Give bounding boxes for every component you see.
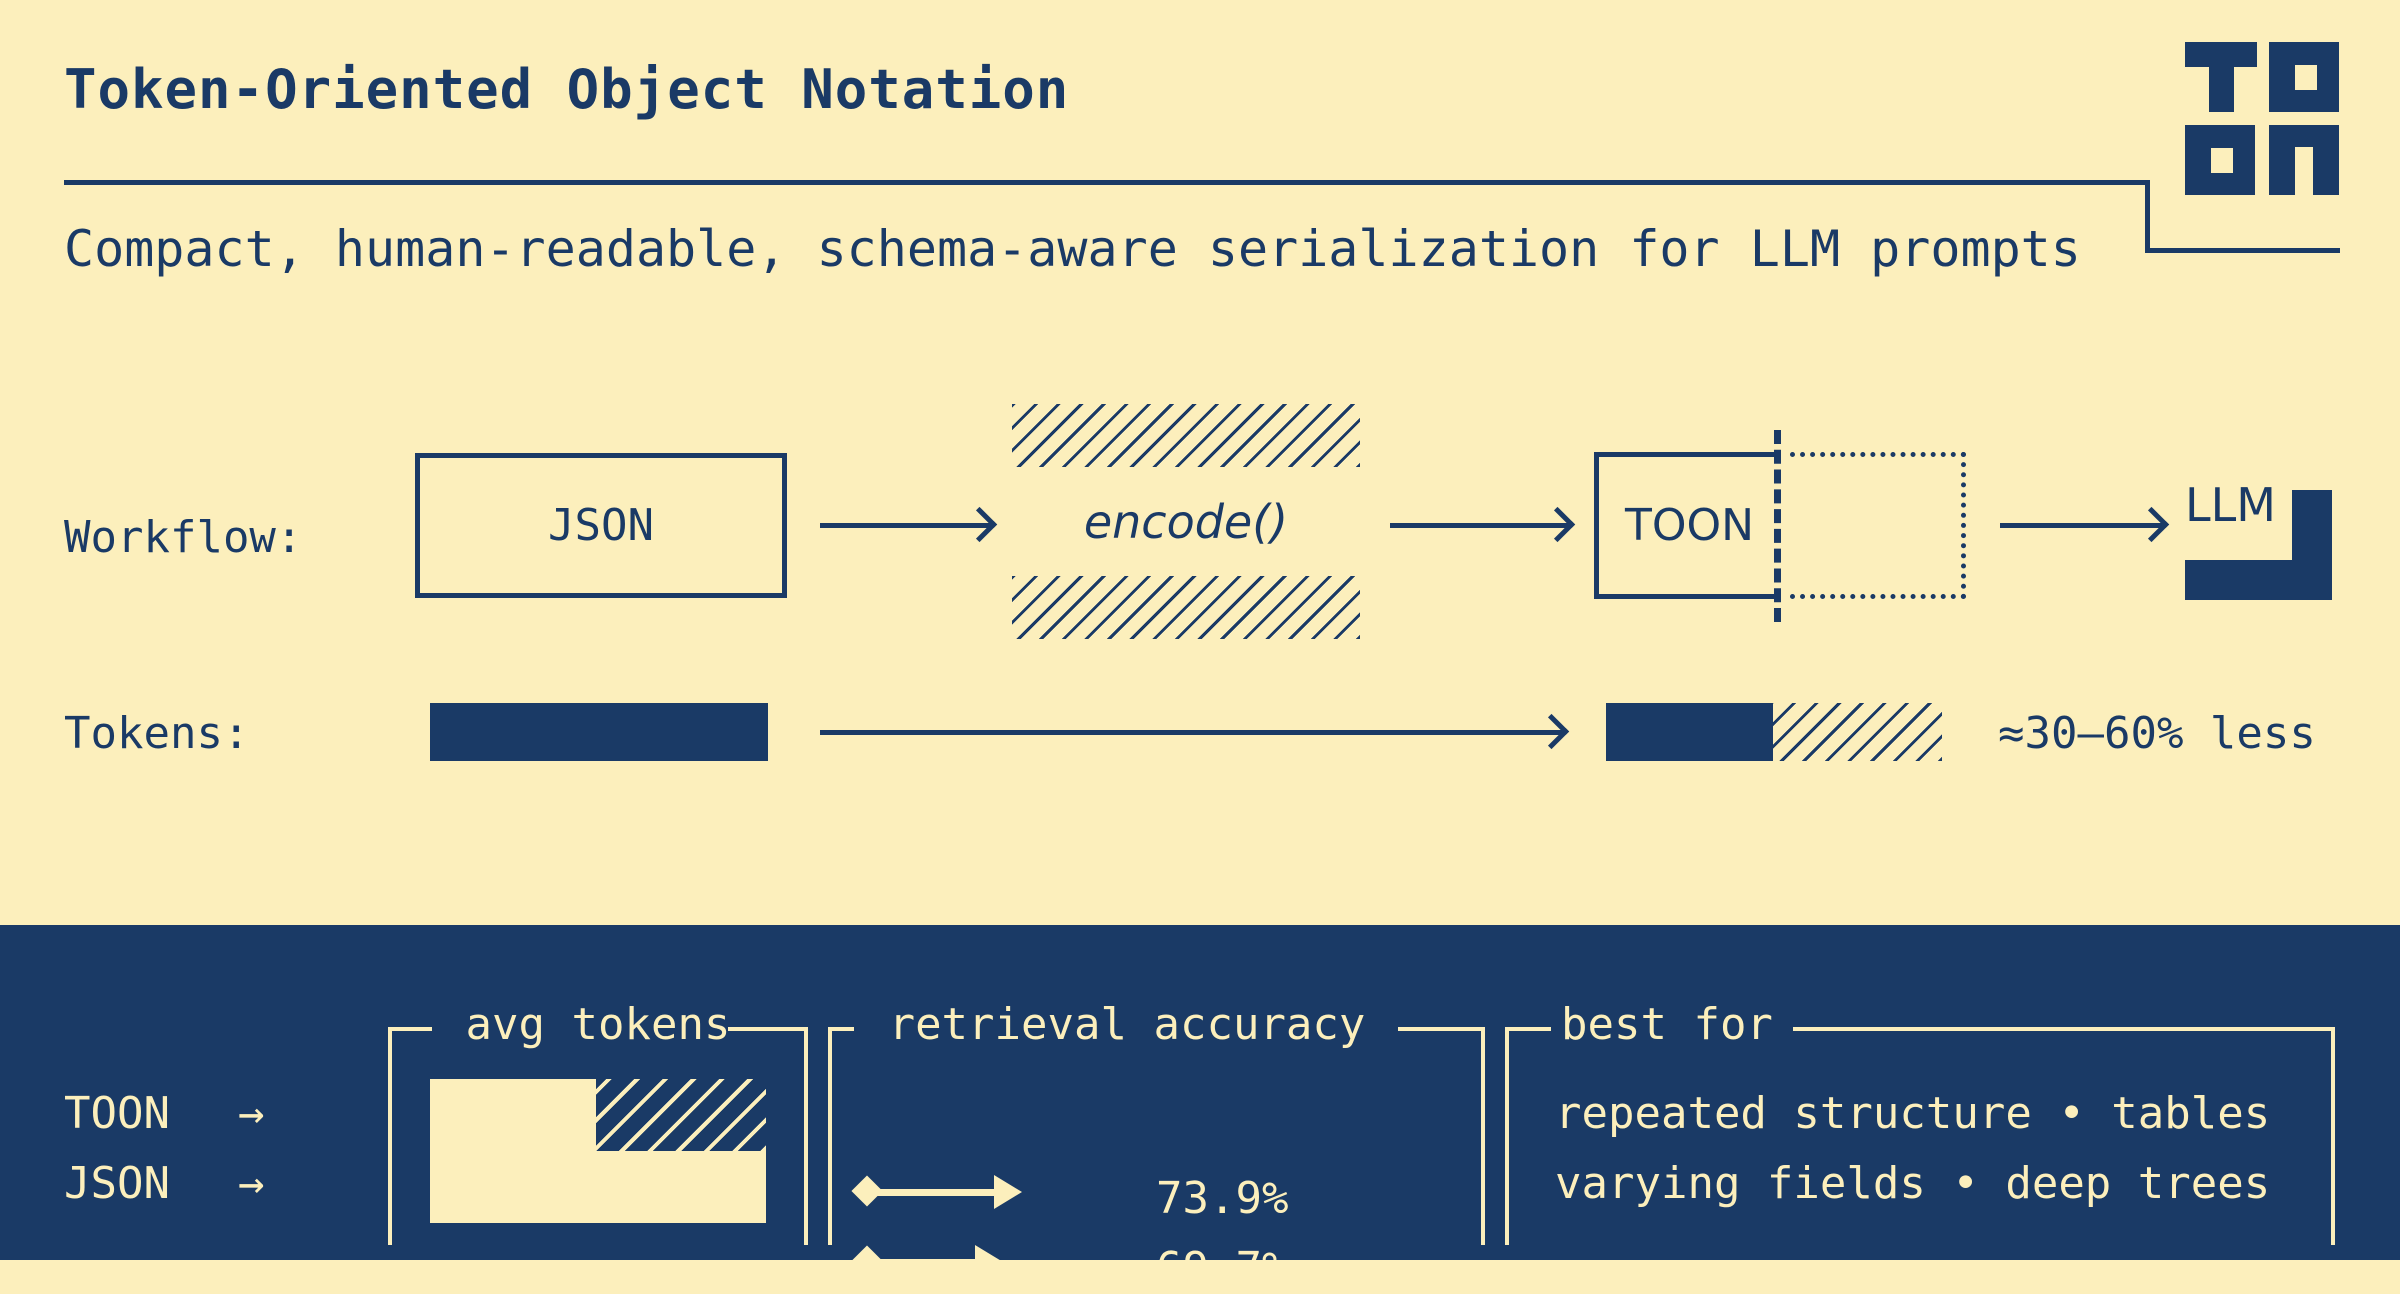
- page-subtitle: Compact, human-readable, schema-aware se…: [64, 220, 2081, 278]
- panel-row-label-toon: TOON: [64, 1088, 170, 1139]
- comparison-panel: TOON → JSON → avg tokens retrieval accur…: [0, 925, 2400, 1260]
- workflow-node-encode: encode(): [1012, 404, 1360, 639]
- section-avg-tokens-title: avg tokens: [438, 999, 758, 1050]
- encode-hatch-bottom: [1012, 576, 1360, 639]
- tokens-reduction-arrow: [820, 730, 1562, 735]
- retrieval-accuracy-value-toon: 73.9%: [1156, 1173, 1288, 1224]
- logo-letter-t-bar: [2185, 42, 2257, 67]
- section-retrieval-accuracy-rule-right: [1398, 1027, 1485, 1031]
- section-best-for: best for repeated structure • tables var…: [1505, 1013, 2335, 1245]
- section-best-for-title: best for: [1561, 999, 1781, 1050]
- avg-tokens-bar-toon-used: [430, 1079, 596, 1151]
- section-retrieval-accuracy-rule-left: [828, 1027, 854, 1031]
- best-for-line-json: varying fields • deep trees: [1555, 1158, 2270, 1209]
- panel-row-label-json: JSON: [64, 1158, 170, 1209]
- tokens-bar-toon-solid: [1606, 703, 1773, 761]
- workflow-node-json: JSON: [415, 453, 787, 598]
- retrieval-accuracy-value-json: 69.7%: [1156, 1243, 1288, 1294]
- workflow-node-toon-dotted-extension: [1790, 452, 1966, 599]
- workflow-node-llm: LLM: [2185, 460, 2340, 600]
- logo-letter-n-top: [2269, 125, 2339, 147]
- retrieval-accuracy-arrow-json: [876, 1259, 977, 1266]
- section-avg-tokens-bracket-left: [388, 1027, 392, 1245]
- tokens-row-label: Tokens:: [64, 708, 249, 759]
- workflow-node-toon: TOON: [1594, 452, 1966, 599]
- section-retrieval-accuracy-title: retrieval accuracy: [862, 999, 1392, 1050]
- section-best-for-rule-right: [1793, 1027, 2335, 1031]
- retrieval-accuracy-arrow-toon: [876, 1189, 996, 1196]
- best-for-line-toon: repeated structure • tables: [1555, 1088, 2270, 1139]
- section-best-for-bracket-left: [1505, 1027, 1509, 1245]
- panel-row-arrow-toon: →: [238, 1088, 265, 1139]
- section-avg-tokens-rule-left: [388, 1027, 432, 1031]
- workflow-row-label: Workflow:: [64, 512, 302, 563]
- avg-tokens-bar-toon-saved-hatch: [596, 1079, 766, 1151]
- workflow-node-toon-solid: TOON: [1594, 452, 1780, 599]
- section-retrieval-accuracy-bracket-right: [1481, 1027, 1485, 1245]
- logo-letter-o-top-hole: [2295, 65, 2317, 90]
- header-rule-vertical: [2145, 180, 2150, 253]
- workflow-node-encode-label: encode(): [1012, 467, 1360, 576]
- tokens-bar-toon-saved-hatch: [1773, 703, 1942, 761]
- header-rule-horizontal-lower: [2145, 248, 2340, 253]
- workflow-arrow-encode-to-toon: [1390, 523, 1568, 528]
- workflow-arrow-toon-to-llm: [2000, 523, 2162, 528]
- toon-logo: [2185, 42, 2340, 157]
- logo-letter-n-right: [2313, 147, 2339, 195]
- workflow-arrow-json-to-encode: [820, 523, 990, 528]
- page-title: Token-Oriented Object Notation: [64, 58, 1069, 121]
- section-retrieval-accuracy-bracket-left: [828, 1027, 832, 1245]
- workflow-node-toon-label: TOON: [1625, 500, 1754, 551]
- tokens-bar-json: [430, 703, 768, 761]
- panel-row-arrow-json: →: [238, 1158, 265, 1209]
- logo-letter-t-stem: [2209, 67, 2234, 112]
- header-rule-horizontal: [64, 180, 2150, 185]
- workflow-node-llm-label: LLM: [2185, 478, 2276, 532]
- section-avg-tokens-bracket-right: [804, 1027, 808, 1245]
- encode-hatch-top: [1012, 404, 1360, 467]
- section-best-for-rule-left: [1505, 1027, 1551, 1031]
- llm-bracket-right: [2292, 490, 2332, 600]
- section-best-for-bracket-right: [2331, 1027, 2335, 1245]
- section-retrieval-accuracy: retrieval accuracy 73.9% 69.7%: [828, 1013, 1485, 1245]
- workflow-node-json-label: JSON: [548, 500, 654, 551]
- avg-tokens-bar-json: [430, 1151, 766, 1223]
- logo-letter-o-bottom-hole: [2211, 148, 2233, 173]
- workflow-node-toon-divider: [1774, 430, 1781, 622]
- infographic-canvas: Token-Oriented Object Notation Compact, …: [0, 0, 2400, 1260]
- tokens-savings-note: ≈30–60% less: [1998, 708, 2316, 759]
